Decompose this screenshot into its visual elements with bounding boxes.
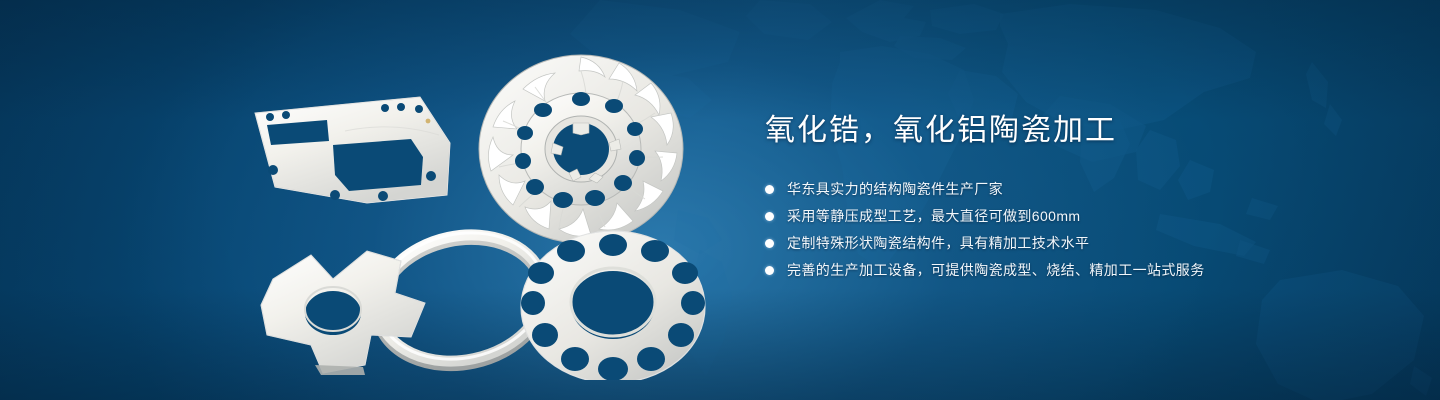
list-item-label: 华东具实力的结构陶瓷件生产厂家 <box>787 180 1003 198</box>
list-item-label: 采用等静压成型工艺，最大直径可做到600mm <box>787 207 1080 225</box>
ceramic-mounting-plate <box>255 97 450 203</box>
list-item: 华东具实力的结构陶瓷件生产厂家 <box>765 180 1365 198</box>
bullet-dot-icon <box>765 239 774 248</box>
list-item: 完善的生产加工设备，可提供陶瓷成型、烧结、精加工一站式服务 <box>765 261 1365 279</box>
ceramic-perforated-disc <box>521 231 705 380</box>
hero-banner: 氧化锆，氧化铝陶瓷加工 华东具实力的结构陶瓷件生产厂家 采用等静压成型工艺，最大… <box>0 0 1440 400</box>
list-item-label: 完善的生产加工设备，可提供陶瓷成型、烧结、精加工一站式服务 <box>787 261 1205 279</box>
list-item: 采用等静压成型工艺，最大直径可做到600mm <box>765 207 1365 225</box>
list-item: 定制特殊形状陶瓷结构件，具有精加工技术水平 <box>765 234 1365 252</box>
bullet-dot-icon <box>765 185 774 194</box>
ceramic-products-image <box>215 35 735 380</box>
ceramic-impeller-wheel <box>479 55 683 243</box>
banner-copy: 氧化锆，氧化铝陶瓷加工 华东具实力的结构陶瓷件生产厂家 采用等静压成型工艺，最大… <box>765 112 1365 279</box>
page-title: 氧化锆，氧化铝陶瓷加工 <box>765 112 1365 150</box>
bullet-dot-icon <box>765 266 774 275</box>
list-item-label: 定制特殊形状陶瓷结构件，具有精加工技术水平 <box>787 234 1089 252</box>
feature-list: 华东具实力的结构陶瓷件生产厂家 采用等静压成型工艺，最大直径可做到600mm 定… <box>765 180 1365 279</box>
bullet-dot-icon <box>765 212 774 221</box>
